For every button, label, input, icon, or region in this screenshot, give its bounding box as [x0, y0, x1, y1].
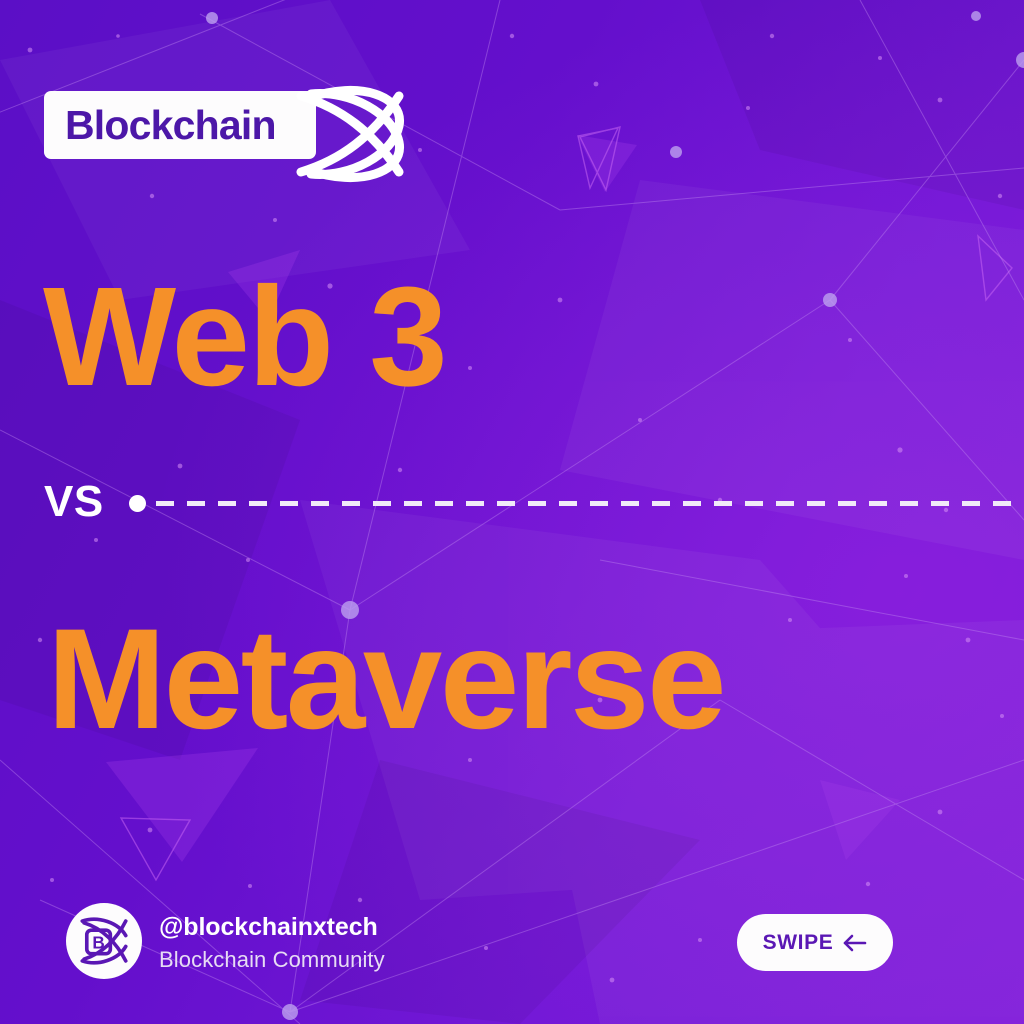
- account-info: @blockchainxtech Blockchain Community: [159, 911, 385, 975]
- title-web3: Web 3: [43, 266, 446, 407]
- x-atom-icon: [287, 82, 412, 186]
- title-metaverse: Metaverse: [47, 608, 724, 751]
- account-handle: @blockchainxtech: [159, 911, 385, 943]
- swipe-label: SWIPE: [763, 932, 834, 953]
- divider-dashed-line: [156, 501, 1024, 506]
- arrow-left-icon: [842, 934, 867, 952]
- logo-plate: Blockchain: [44, 91, 316, 159]
- blockchainx-avatar-icon: B: [75, 912, 133, 970]
- versus-label: VS: [44, 480, 104, 524]
- svg-text:B: B: [92, 932, 104, 952]
- divider-dot: [129, 495, 146, 512]
- avatar: B: [66, 903, 142, 979]
- social-post-canvas: Blockchain Web 3 VS Metaverse B: [0, 0, 1024, 1024]
- logo-wordmark: Blockchain: [65, 105, 276, 146]
- account-subtitle: Blockchain Community: [159, 946, 385, 975]
- swipe-button[interactable]: SWIPE: [737, 914, 893, 971]
